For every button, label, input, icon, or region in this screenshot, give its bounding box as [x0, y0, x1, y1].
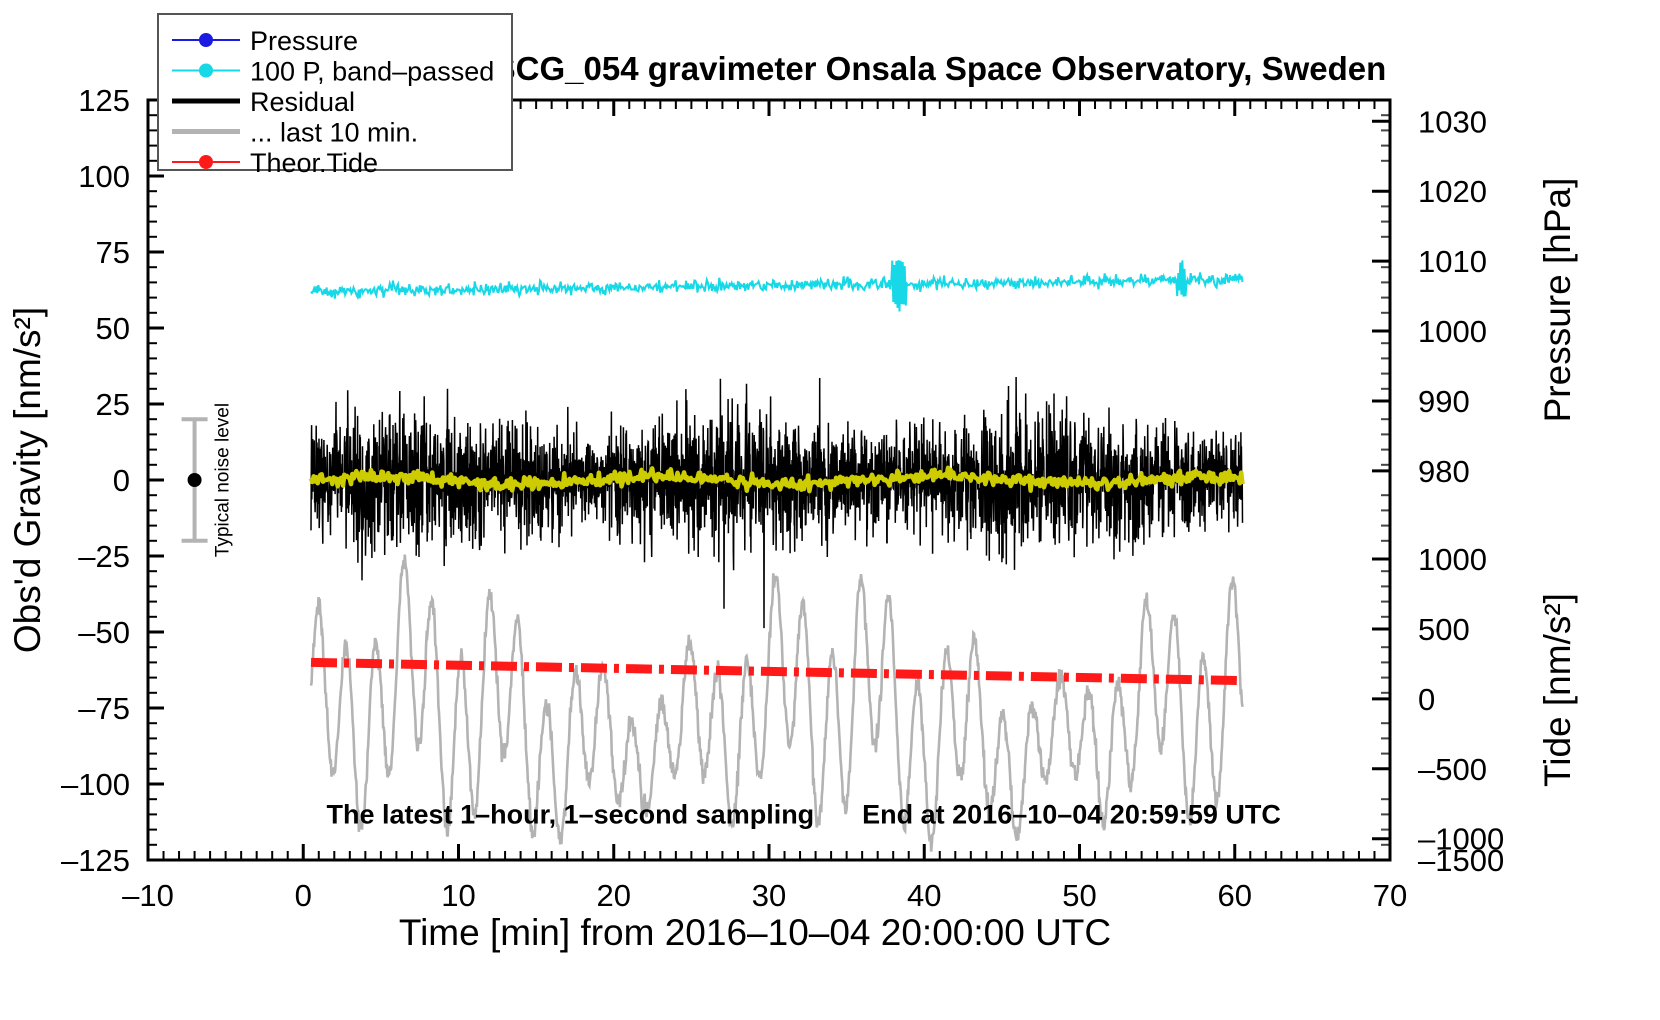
y-axis-label-left: Obs'd Gravity [nm/s²] — [7, 307, 48, 653]
legend-label-3: ... last 10 min. — [250, 118, 418, 148]
tide-tick-label: 500 — [1418, 612, 1470, 647]
pressure-tick-label: 1010 — [1418, 244, 1487, 279]
legend-marker-0 — [199, 33, 213, 47]
x-tick-label: 0 — [295, 878, 312, 913]
tide-tick-label: 0 — [1418, 682, 1435, 717]
x-tick-label: 30 — [752, 878, 786, 913]
chart-title: SCG_054 gravimeter Onsala Space Observat… — [494, 50, 1387, 87]
chart-page: SCG_054 gravimeter Onsala Space Observat… — [0, 0, 1660, 1020]
tide-tick-label: 1000 — [1418, 542, 1487, 577]
y-tick-label: 50 — [96, 311, 130, 346]
y-tick-label: 125 — [78, 83, 130, 118]
y-tick-label: 75 — [96, 235, 130, 270]
legend-label-4: Theor.Tide — [250, 148, 378, 178]
legend-marker-4 — [199, 155, 213, 169]
y-tick-label: –25 — [78, 539, 130, 574]
pressure-tick-label: 1020 — [1418, 174, 1487, 209]
x-tick-label: –10 — [122, 878, 174, 913]
y-tick-label: 25 — [96, 387, 130, 422]
tide-tick-label: –1500 — [1418, 843, 1504, 878]
gravimeter-timeseries-chart: SCG_054 gravimeter Onsala Space Observat… — [0, 0, 1660, 1020]
legend-label-1: 100 P, band–passed — [250, 57, 494, 87]
pressure-tick-label: 990 — [1418, 384, 1470, 419]
y-axis-label-tide: Tide [nm/s²] — [1537, 593, 1578, 787]
legend-label-2: Residual — [250, 87, 355, 117]
x-tick-label: 60 — [1218, 878, 1252, 913]
y-tick-label: 100 — [78, 159, 130, 194]
x-axis-label: Time [min] from 2016–10–04 20:00:00 UTC — [399, 912, 1111, 953]
pressure-tick-label: 1000 — [1418, 314, 1487, 349]
tide-tick-label: –500 — [1418, 752, 1487, 787]
legend-label-0: Pressure — [250, 26, 358, 56]
x-tick-label: 50 — [1062, 878, 1096, 913]
y-tick-label: –125 — [61, 843, 130, 878]
plot-annotations: The latest 1–hour, 1–second samplingEnd … — [327, 800, 1281, 830]
legend-marker-1 — [199, 64, 213, 78]
noise-level-label: Typical noise level — [213, 403, 234, 557]
y-tick-label: –75 — [78, 691, 130, 726]
pressure-tick-label: 980 — [1418, 454, 1470, 489]
y-tick-label: –100 — [61, 767, 130, 802]
x-tick-label: 10 — [441, 878, 475, 913]
x-tick-label: 20 — [597, 878, 631, 913]
y-tick-label: –50 — [78, 615, 130, 650]
pressure-tick-label: 1030 — [1418, 104, 1487, 139]
x-tick-label: 70 — [1373, 878, 1407, 913]
sampling-note: The latest 1–hour, 1–second sampling — [327, 800, 815, 830]
x-tick-label: 40 — [907, 878, 941, 913]
y-tick-label: 0 — [113, 463, 130, 498]
noise-center-dot — [188, 473, 202, 487]
y-axis-label-pressure: Pressure [hPa] — [1537, 178, 1578, 423]
chart-legend: Pressure100 P, band–passedResidual... la… — [158, 14, 512, 178]
end-time-note: End at 2016–10–04 20:59:59 UTC — [862, 800, 1281, 830]
